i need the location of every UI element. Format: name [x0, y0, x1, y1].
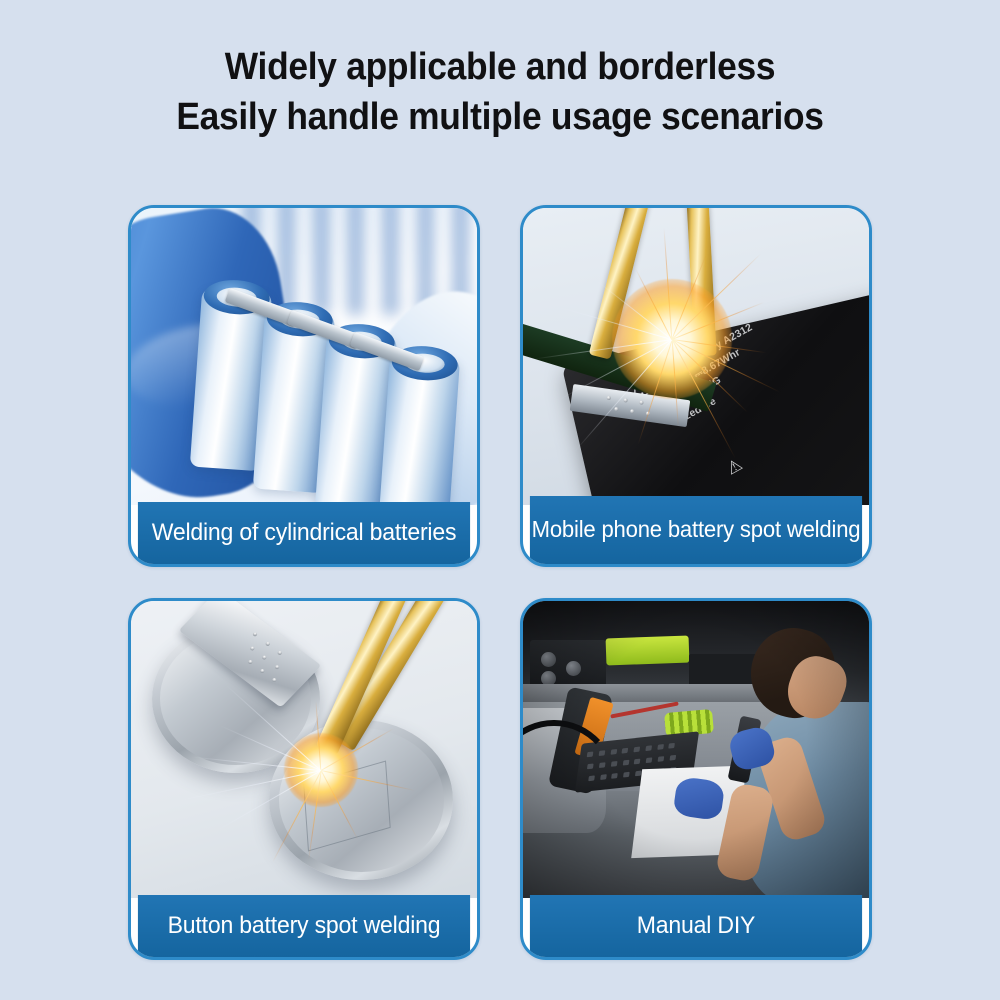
spark-rays — [131, 601, 477, 898]
scenario-card-mobile-phone-battery-spot-welding[interactable]: Rechargeable Li-ion Battery A2312 3.82V … — [520, 205, 872, 567]
photo-vignette — [523, 601, 869, 898]
caption-text: Welding of cylindrical batteries — [152, 520, 457, 547]
card-caption: Mobile phone battery spot welding — [530, 496, 862, 564]
scenario-card-button-battery-spot-welding[interactable]: Button battery spot welding — [128, 598, 480, 960]
photo-technician-workbench — [523, 601, 869, 898]
photo-cylindrical-batteries — [131, 208, 477, 505]
spark-rays — [523, 208, 869, 505]
caption-text: Manual DIY — [637, 913, 755, 940]
card-caption: Manual DIY — [530, 895, 862, 957]
battery-cell-group — [179, 267, 463, 487]
headline-line-1: Widely applicable and borderless — [225, 46, 775, 88]
scenario-card-cylindrical-battery-welding[interactable]: Welding of cylindrical batteries — [128, 205, 480, 567]
photo-coin-cell-welding — [131, 601, 477, 898]
scenario-card-grid: Welding of cylindrical batteries Recharg… — [128, 205, 872, 960]
caption-text: Mobile phone battery spot welding — [532, 517, 861, 543]
headline-line-2: Easily handle multiple usage scenarios — [35, 92, 965, 142]
page-headline: Widely applicable and borderless Easily … — [35, 0, 965, 142]
card-caption: Welding of cylindrical batteries — [138, 502, 470, 564]
scenario-card-manual-diy[interactable]: Manual DIY — [520, 598, 872, 960]
photo-phone-battery-welding: Rechargeable Li-ion Battery A2312 3.82V … — [523, 208, 869, 505]
card-caption: Button battery spot welding — [138, 895, 470, 957]
caption-text: Button battery spot welding — [168, 913, 441, 940]
